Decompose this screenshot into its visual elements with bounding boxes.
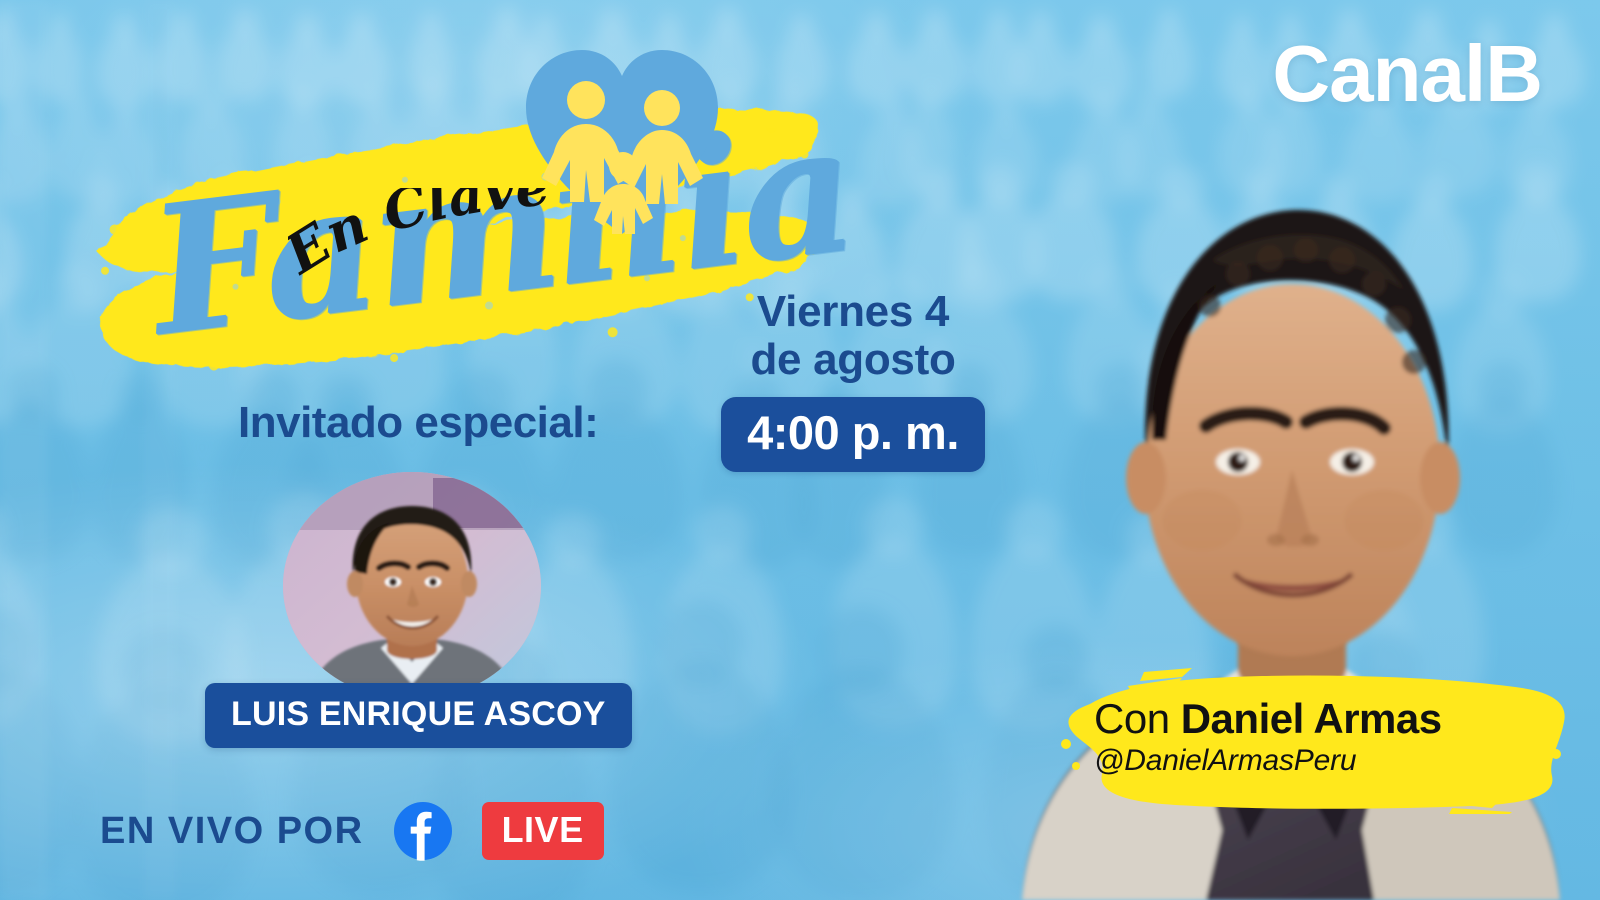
time-badge: 4:00 p. m. xyxy=(721,397,985,472)
broadcast-info: EN VIVO POR LIVE xyxy=(100,800,604,862)
promo-poster: CanalB xyxy=(0,0,1600,900)
schedule-block: Viernes 4 de agosto 4:00 p. m. xyxy=(700,288,1006,472)
guest-label: Invitado especial: xyxy=(238,398,598,448)
guest-name-banner: LUIS ENRIQUE ASCOY xyxy=(205,683,632,748)
host-name-banner: Con Daniel Armas @DanielArmasPeru xyxy=(1032,664,1572,814)
canalb-wordmark: CanalB xyxy=(1272,34,1542,114)
host-name-text: Con Daniel Armas @DanielArmasPeru xyxy=(1094,698,1442,778)
broadcast-label: EN VIVO POR xyxy=(100,810,364,853)
host-handle: @DanielArmasPeru xyxy=(1094,744,1442,778)
live-badge: LIVE xyxy=(482,802,604,860)
host-prefix: Con xyxy=(1094,695,1181,742)
date-line-1: Viernes 4 xyxy=(700,288,1006,336)
host-name-line: Con Daniel Armas xyxy=(1094,698,1442,740)
host-name: Daniel Armas xyxy=(1181,695,1442,742)
guest-portrait-circle xyxy=(283,472,541,700)
facebook-icon[interactable] xyxy=(392,800,454,862)
date-line-2: de agosto xyxy=(700,336,1006,384)
en-clave-text: En Clave xyxy=(288,188,552,287)
logo-overline-en-clave: En Clave xyxy=(288,188,618,298)
svg-text:En Clave: En Clave xyxy=(288,188,552,287)
